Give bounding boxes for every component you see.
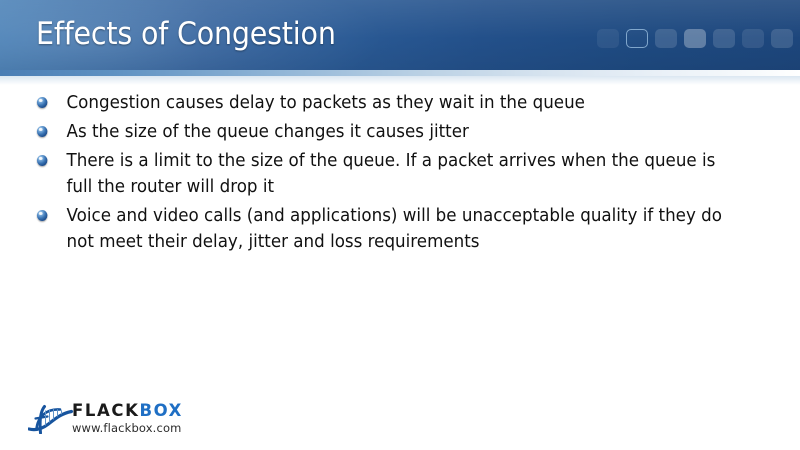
- bullet-sphere-icon: [37, 210, 48, 221]
- flackbox-logo: FLACKBOX www.flackbox.com: [28, 398, 208, 438]
- bullet-text: Congestion causes delay to packets as th…: [67, 90, 726, 116]
- square-2-icon: [626, 29, 648, 48]
- list-item: Congestion causes delay to packets as th…: [35, 90, 725, 116]
- logo-url: www.flackbox.com: [72, 421, 183, 435]
- list-item: Voice and video calls (and applications)…: [35, 203, 725, 255]
- slide-body: Congestion causes delay to packets as th…: [0, 90, 800, 258]
- list-item: As the size of the queue changes it caus…: [35, 119, 725, 145]
- list-item: There is a limit to the size of the queu…: [35, 148, 725, 200]
- bullet-text: As the size of the queue changes it caus…: [67, 119, 726, 145]
- square-4-icon: [684, 29, 706, 48]
- bullet-text: Voice and video calls (and applications)…: [67, 203, 726, 255]
- bullet-sphere-icon: [37, 97, 48, 108]
- flackbox-bridge-icon: [28, 400, 74, 434]
- square-5-icon: [713, 29, 735, 48]
- square-6-icon: [742, 29, 764, 48]
- header-bottom-fade: [0, 76, 800, 85]
- bullet-sphere-icon: [37, 126, 48, 137]
- header-decorative-squares: [597, 29, 800, 48]
- slide-header: Effects of Congestion: [0, 0, 800, 70]
- page-title: Effects of Congestion: [36, 14, 336, 54]
- logo-word-flack: FLACK: [72, 401, 139, 420]
- bullet-list: Congestion causes delay to packets as th…: [0, 90, 800, 255]
- logo-word-box: BOX: [139, 401, 183, 420]
- bullet-text: There is a limit to the size of the queu…: [67, 148, 726, 200]
- slide: Effects of Congestion Congestion causes …: [0, 0, 800, 450]
- bullet-sphere-icon: [37, 155, 48, 166]
- square-7-icon: [771, 29, 793, 48]
- flackbox-wordmark: FLACKBOX www.flackbox.com: [72, 402, 183, 435]
- logo-word-row: FLACKBOX: [72, 402, 183, 420]
- square-1-icon: [597, 29, 619, 48]
- square-3-icon: [655, 29, 677, 48]
